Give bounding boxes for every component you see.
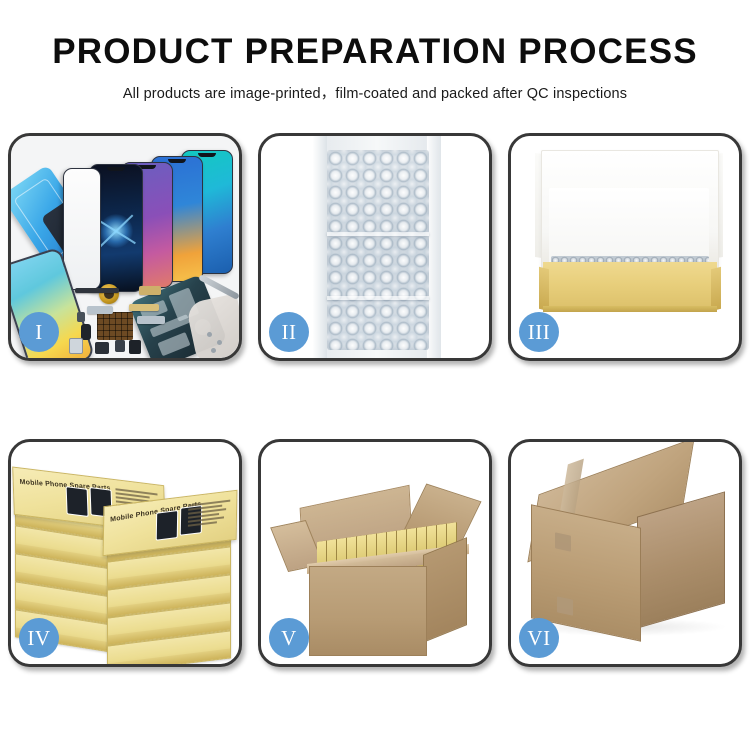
small-part bbox=[129, 340, 141, 354]
step-badge-1: I bbox=[19, 312, 59, 352]
step-badge-6: VI bbox=[519, 618, 559, 658]
step-badge-2: II bbox=[269, 312, 309, 352]
page-title: PRODUCT PREPARATION PROCESS bbox=[0, 34, 750, 71]
process-step-5: V bbox=[258, 439, 492, 667]
screw-part bbox=[207, 332, 212, 337]
connector-grid-part bbox=[97, 312, 133, 340]
process-step-3: III bbox=[508, 133, 742, 361]
bubble-wrap-bubbles bbox=[327, 150, 429, 350]
small-part bbox=[77, 312, 85, 322]
process-step-4: Mobile Phone Spare Parts Mobile Phone Sp… bbox=[8, 439, 242, 667]
notch-icon bbox=[107, 167, 125, 171]
small-part bbox=[115, 340, 125, 352]
wallpaper-burst-icon bbox=[99, 214, 133, 248]
notch-icon bbox=[198, 153, 216, 157]
box-tray-rim bbox=[543, 306, 717, 312]
small-part bbox=[81, 324, 91, 340]
wrap-crease bbox=[327, 296, 429, 300]
wrap-fold-right bbox=[427, 136, 441, 358]
screw-part bbox=[211, 348, 216, 353]
flex-cable-part bbox=[129, 304, 159, 311]
flex-cable-part bbox=[75, 288, 119, 293]
page-subtitle: All products are image-printed，film-coat… bbox=[0, 82, 750, 103]
small-part bbox=[95, 342, 109, 354]
step-badge-5: V bbox=[269, 618, 309, 658]
wrap-crease bbox=[327, 232, 429, 236]
small-part bbox=[69, 338, 83, 354]
process-step-6: VI bbox=[508, 439, 742, 667]
screw-part bbox=[217, 340, 222, 345]
header: PRODUCT PREPARATION PROCESS All products… bbox=[0, 0, 750, 103]
wrap-fold-left bbox=[313, 136, 327, 358]
box-print-phone-image bbox=[156, 510, 178, 541]
notch-icon bbox=[168, 159, 186, 163]
process-step-2: II bbox=[258, 133, 492, 361]
flex-cable-part bbox=[137, 316, 165, 324]
phone-screen-fan bbox=[63, 148, 239, 288]
carton-front-panel bbox=[309, 566, 427, 656]
component-chip bbox=[157, 332, 190, 356]
phone-screen-white bbox=[63, 168, 101, 290]
flex-cable-part bbox=[87, 306, 113, 314]
step-badge-3: III bbox=[519, 312, 559, 352]
foam-pad bbox=[549, 188, 709, 264]
flex-cable-part bbox=[139, 286, 161, 295]
process-step-1: I bbox=[8, 133, 242, 361]
speaker-coil-part bbox=[99, 284, 119, 304]
box-print-text-lines bbox=[188, 500, 230, 529]
box-print-phone-image bbox=[66, 486, 89, 517]
carton-side-panel bbox=[423, 537, 467, 643]
kraft-box-tray bbox=[543, 262, 717, 310]
step-badge-4: IV bbox=[19, 618, 59, 658]
tape-tab bbox=[557, 596, 573, 615]
process-step-grid: I II III bbox=[8, 133, 742, 667]
tape-tab bbox=[555, 532, 571, 551]
